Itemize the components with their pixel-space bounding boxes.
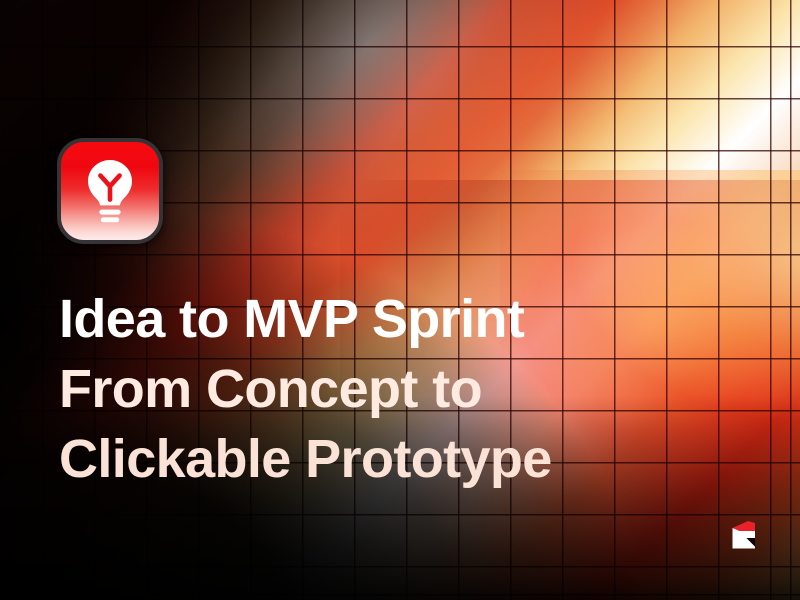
headline: Idea to MVP Sprint From Concept to Click… [59, 284, 739, 494]
headline-line-1: Idea to MVP Sprint [59, 284, 739, 354]
slide-canvas: Idea to MVP Sprint From Concept to Click… [0, 0, 800, 600]
flag-f-logo [728, 519, 758, 551]
headline-line-2: From Concept to [59, 354, 739, 424]
idea-lightbulb-icon [57, 138, 163, 244]
headline-line-3: Clickable Prototype [59, 424, 739, 494]
